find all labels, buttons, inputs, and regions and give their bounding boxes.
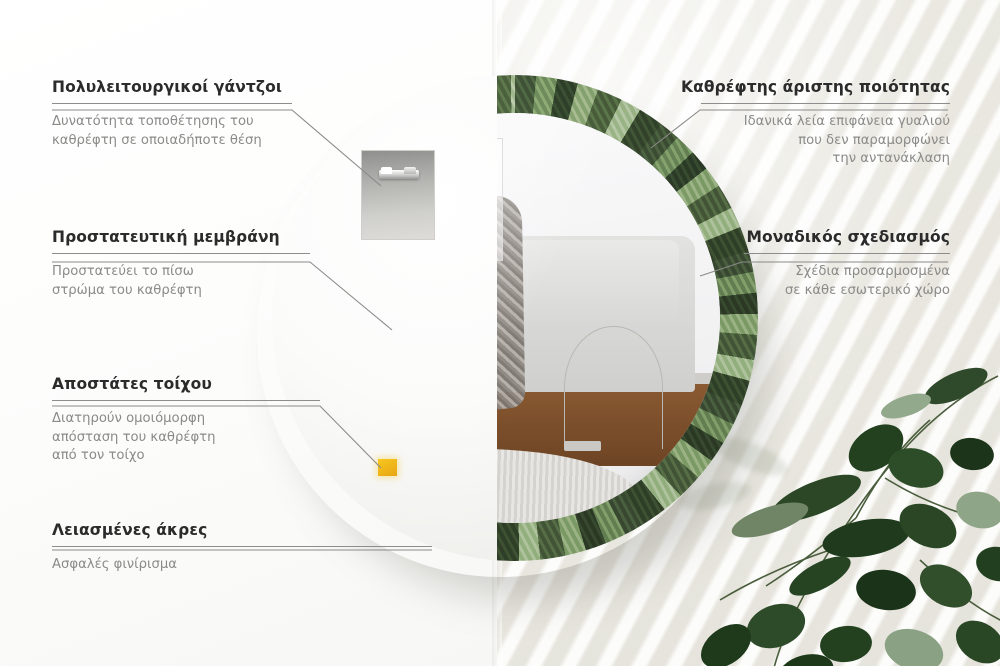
reflection-floor-lamp bbox=[564, 326, 662, 449]
feature-edges-description: Ασφαλές φινίρισμα bbox=[52, 556, 432, 575]
feature-design-rule bbox=[744, 253, 950, 254]
feature-design-description: Σχέδια προσαρμοσμένα σε κάθε εσωτερικό χ… bbox=[744, 263, 950, 300]
feature-hooks-rule bbox=[52, 103, 292, 104]
feature-membrane-title: Προστατευτική μεμβράνη bbox=[52, 228, 310, 246]
feature-spacers-rule bbox=[52, 400, 320, 401]
feature-spacers-title: Αποστάτες τοίχου bbox=[52, 375, 320, 393]
feature-membrane-description: Προστατεύει το πίσω στρώμα του καθρέφτη bbox=[52, 263, 310, 300]
infographic-canvas: Πολυλειτουργικοί γάντζοι Δυνατότητα τοπο… bbox=[0, 0, 1000, 666]
feature-design-title: Μοναδικός σχεδιασμός bbox=[744, 228, 950, 246]
feature-membrane-rule bbox=[52, 253, 310, 254]
feature-quality-title: Καθρέφτης άριστης ποιότητας bbox=[681, 78, 950, 96]
feature-spacers: Αποστάτες τοίχου Διατηρούν ομοιόμορφη απ… bbox=[52, 375, 320, 466]
feature-hooks-description: Δυνατότητα τοποθέτησης του καθρέφτη σε ο… bbox=[52, 113, 292, 150]
feature-membrane: Προστατευτική μεμβράνη Προστατεύει το πί… bbox=[52, 228, 310, 300]
feature-edges-title: Λειασμένες άκρες bbox=[52, 521, 432, 539]
hook-detail-panel bbox=[361, 150, 435, 240]
feature-quality: Καθρέφτης άριστης ποιότητας Ιδανικά λεία… bbox=[681, 78, 950, 169]
mirror-product bbox=[247, 75, 733, 561]
feature-spacers-description: Διατηρούν ομοιόμορφη απόσταση του καθρέφ… bbox=[52, 410, 320, 466]
feature-hooks-title: Πολυλειτουργικοί γάντζοι bbox=[52, 78, 292, 96]
feature-edges: Λειασμένες άκρες Ασφαλές φινίρισμα bbox=[52, 521, 432, 575]
wall-hook-icon bbox=[379, 170, 419, 179]
reflection-lamp-base bbox=[564, 441, 601, 451]
feature-edges-rule bbox=[52, 546, 432, 547]
feature-quality-rule bbox=[701, 103, 950, 104]
foreground-plant-decoration bbox=[680, 350, 1000, 666]
feature-hooks: Πολυλειτουργικοί γάντζοι Δυνατότητα τοπο… bbox=[52, 78, 292, 150]
feature-quality-description: Ιδανικά λεία επιφάνεια γυαλιού που δεν π… bbox=[681, 113, 950, 169]
feature-design: Μοναδικός σχεδιασμός Σχέδια προσαρμοσμέν… bbox=[744, 228, 950, 300]
spacer-chip bbox=[378, 459, 397, 476]
